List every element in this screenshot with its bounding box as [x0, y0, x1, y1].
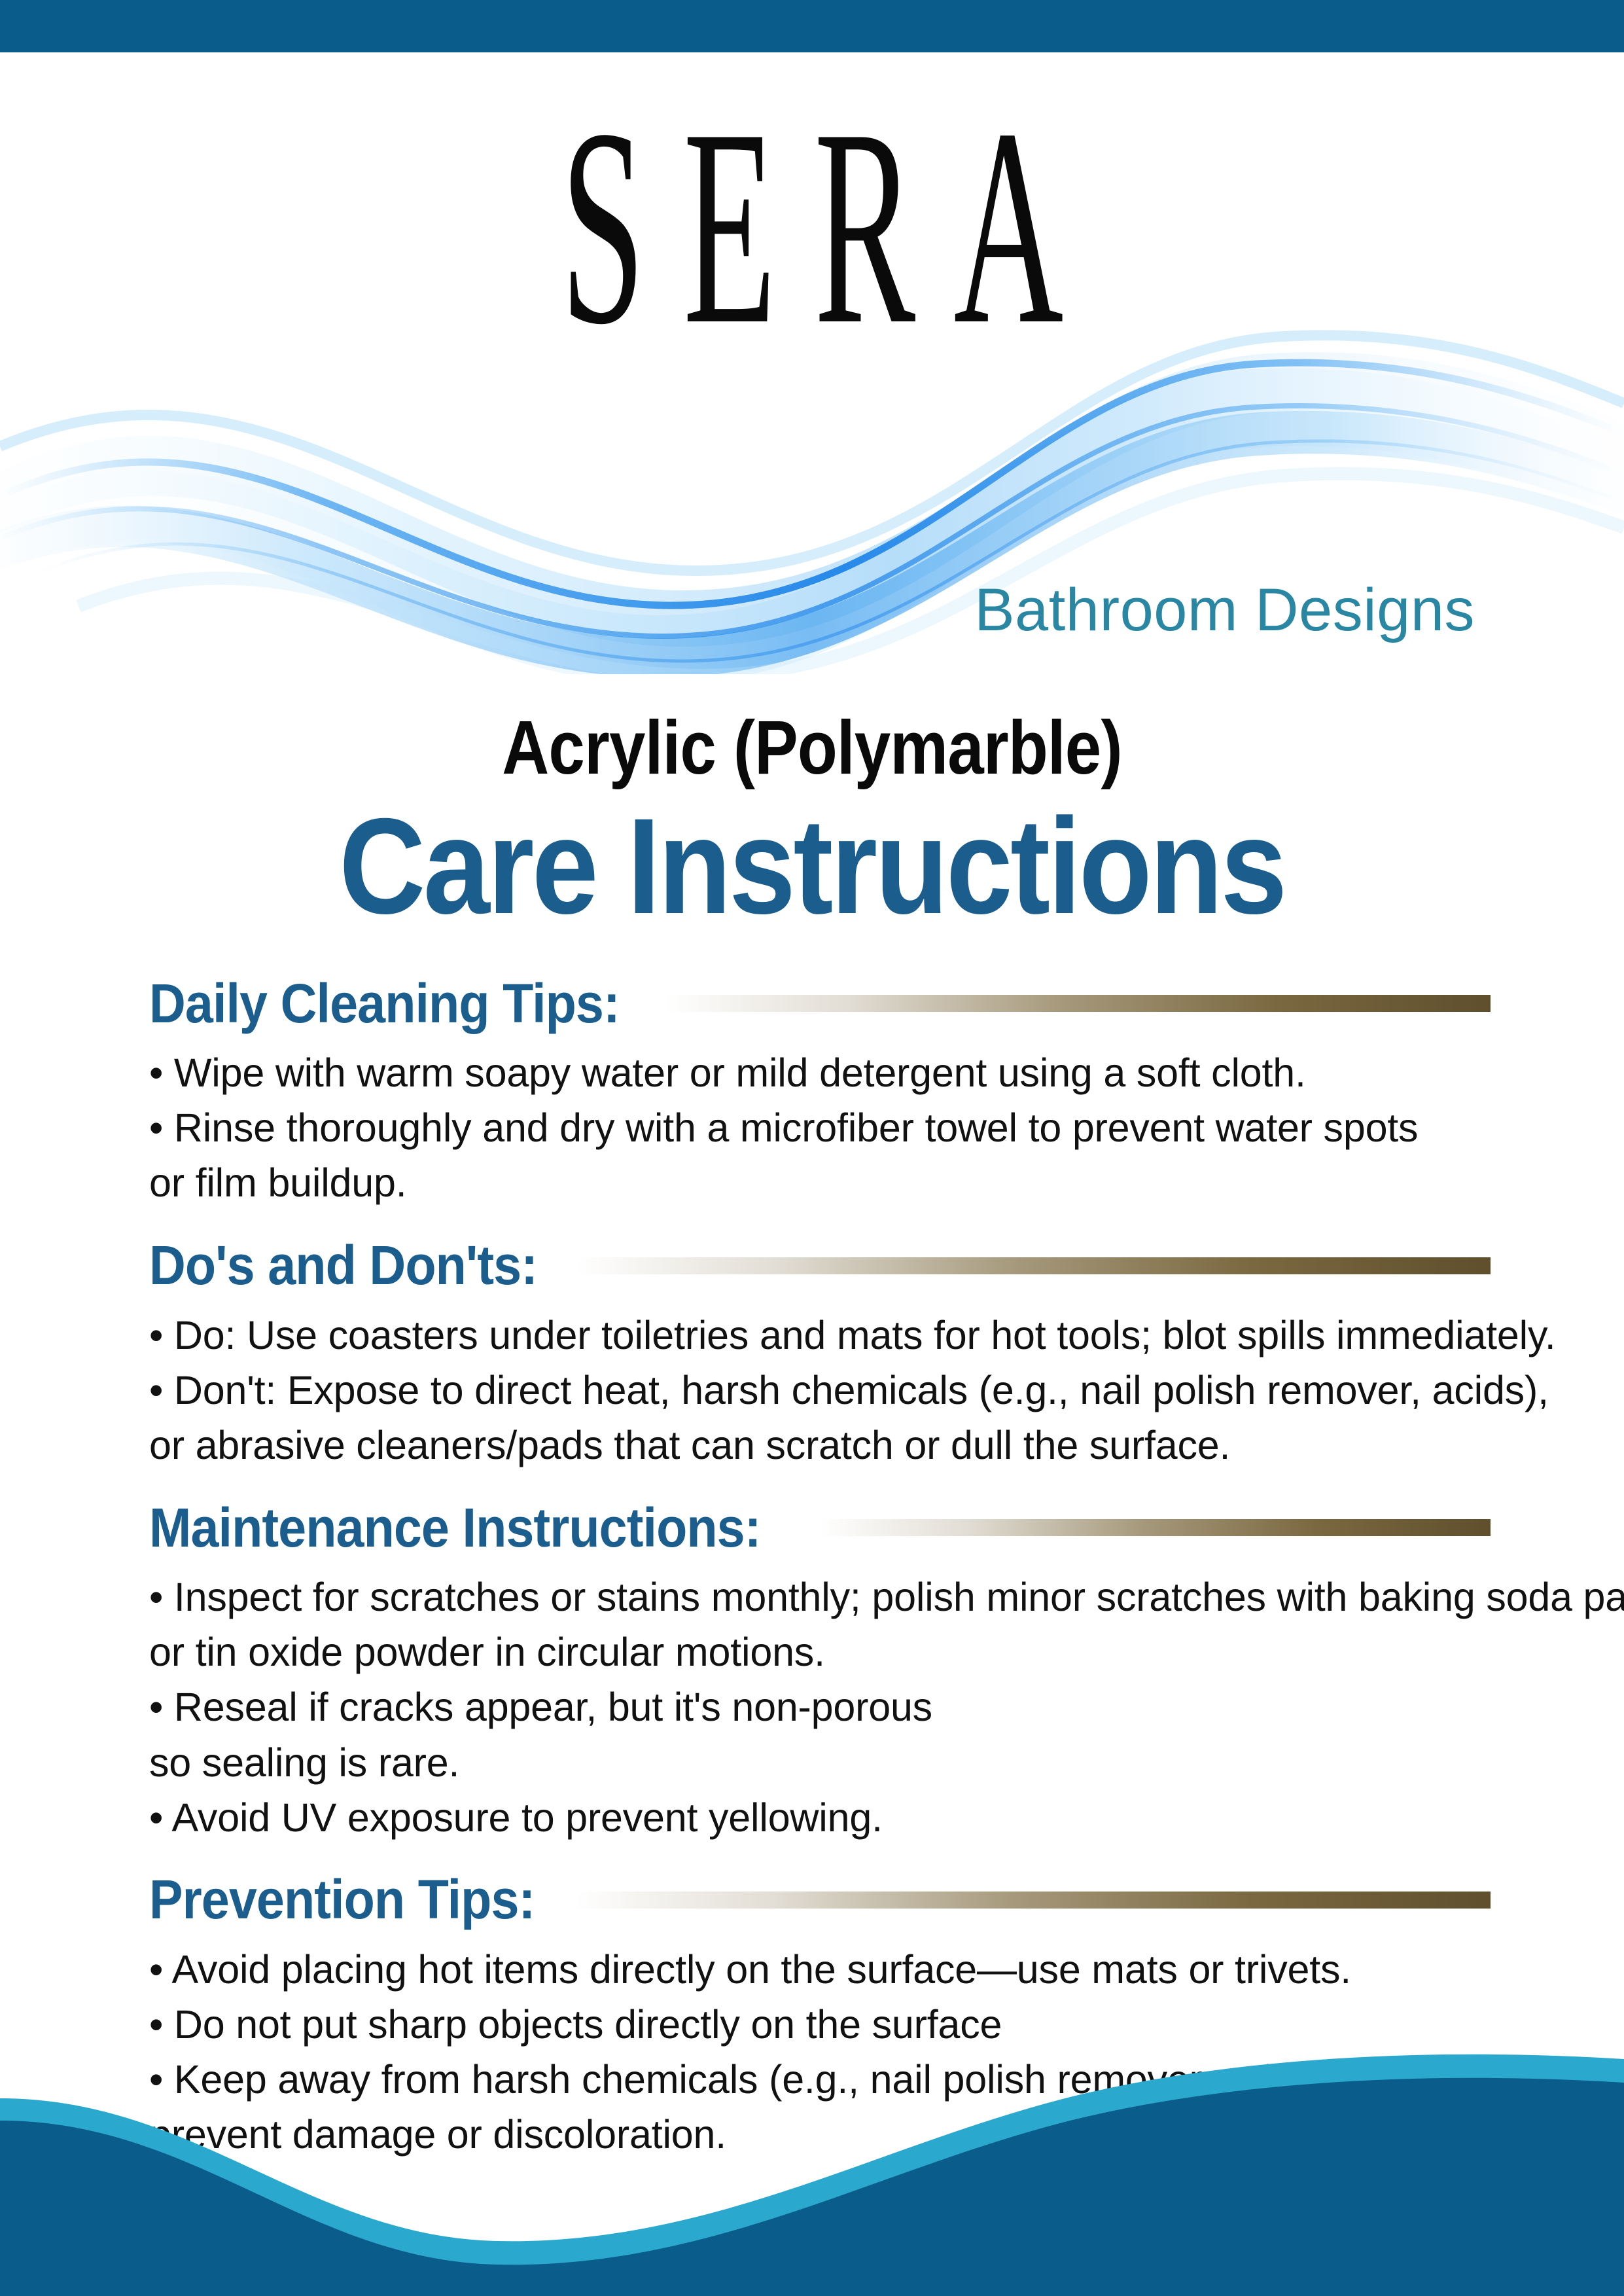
section-divider-rule: [578, 1257, 1491, 1274]
section-body: • Inspect for scratches or stains monthl…: [149, 1559, 1491, 1845]
bullet-line: so sealing is rare.: [149, 1735, 1491, 1790]
section-spacer: [149, 1480, 1491, 1496]
section-divider-rule: [667, 995, 1491, 1012]
bullet-line: • Reseal if cracks appear, but it's non-…: [149, 1679, 1491, 1734]
section-heading: Daily Cleaning Tips:: [149, 972, 620, 1035]
section-heading: Maintenance Instructions:: [149, 1496, 761, 1560]
bullet-line: • Don't: Expose to direct heat, harsh ch…: [149, 1363, 1491, 1418]
brand-tagline: Bathroom Designs: [974, 576, 1475, 645]
page-title: Care Instructions: [97, 795, 1527, 938]
top-bar: [0, 0, 1624, 52]
section-header-row: Maintenance Instructions:: [149, 1496, 1491, 1559]
bullet-line: • Avoid placing hot items directly on th…: [149, 1942, 1491, 1997]
bullet-line: or abrasive cleaners/pads that can scrat…: [149, 1418, 1491, 1473]
section-daily-cleaning-tips: Daily Cleaning Tips: • Wipe with warm so…: [149, 972, 1491, 1211]
section-dos-and-donts: Do's and Don'ts: • Do: Use coasters unde…: [149, 1234, 1491, 1473]
section-heading: Do's and Don'ts:: [149, 1234, 537, 1297]
bullet-line: or tin oxide powder in circular motions.: [149, 1624, 1491, 1679]
section-spacer: [149, 1219, 1491, 1234]
section-body: • Do: Use coasters under toiletries and …: [149, 1297, 1491, 1473]
bullet-line: or film buildup.: [149, 1155, 1491, 1210]
section-divider-rule: [821, 1519, 1491, 1536]
footer-wave-graphic: [0, 2021, 1624, 2296]
section-header-row: Daily Cleaning Tips:: [149, 972, 1491, 1035]
section-body: • Wipe with warm soapy water or mild det…: [149, 1035, 1491, 1211]
product-subtitle: Acrylic (Polymarble): [114, 704, 1511, 791]
section-header-row: Prevention Tips:: [149, 1869, 1491, 1931]
brand-logo-sera: SERA: [374, 98, 1250, 357]
sections-container: Daily Cleaning Tips: • Wipe with warm so…: [149, 972, 1491, 2170]
section-spacer: [149, 1853, 1491, 1869]
bullet-line: • Do: Use coasters under toiletries and …: [149, 1308, 1491, 1363]
bullet-line: • Avoid UV exposure to prevent yellowing…: [149, 1790, 1491, 1845]
header-logo-block: SERA: [0, 92, 1624, 694]
section-maintenance-instructions: Maintenance Instructions: • Inspect for …: [149, 1496, 1491, 1845]
care-instructions-poster: SERA: [0, 0, 1624, 2296]
bullet-line: • Inspect for scratches or stains monthl…: [149, 1570, 1491, 1624]
section-heading: Prevention Tips:: [149, 1868, 535, 1931]
section-header-row: Do's and Don'ts:: [149, 1234, 1491, 1297]
section-divider-rule: [575, 1892, 1491, 1909]
bullet-line: • Rinse thoroughly and dry with a microf…: [149, 1100, 1491, 1155]
bullet-line: • Wipe with warm soapy water or mild det…: [149, 1045, 1491, 1100]
